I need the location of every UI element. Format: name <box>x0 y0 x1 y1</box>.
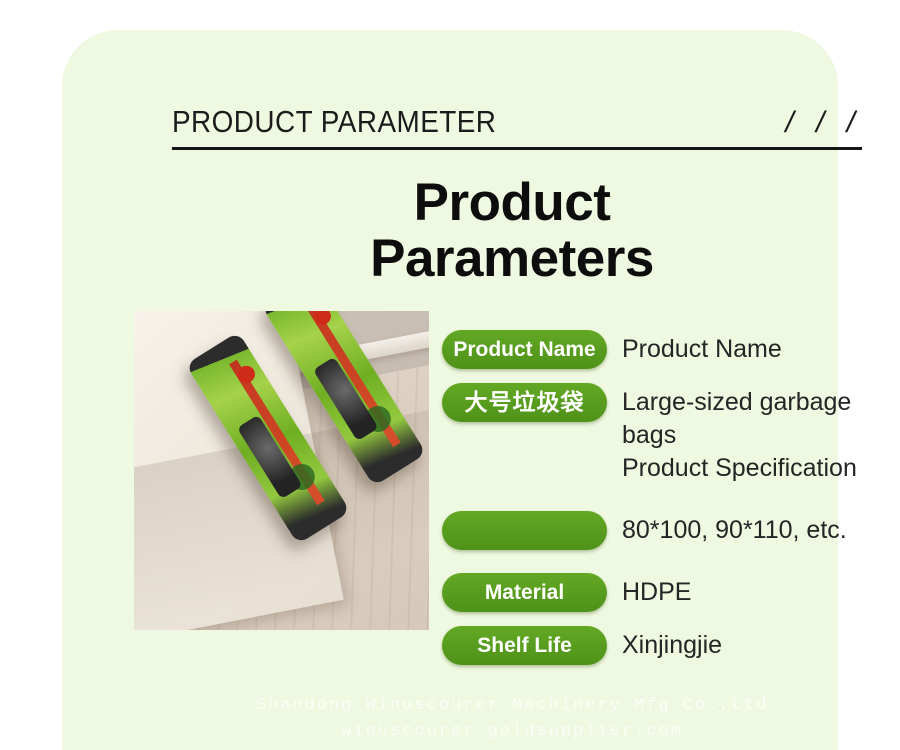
watermark: Shandong Winuscourer Machinery Mfg Co.,L… <box>124 693 900 745</box>
watermark-url: winuscourer.goldsupplier.com <box>124 719 900 745</box>
specification-list: Product Name Product Name 大号垃圾袋 Large-si… <box>442 330 900 679</box>
page-title: Product Parameters <box>124 175 900 287</box>
page-title-line2: Parameters <box>124 231 900 287</box>
watermark-company: Shandong Winuscourer Machinery Mfg Co.,L… <box>124 693 900 719</box>
spec-label-specification <box>442 511 607 550</box>
spec-row-product-name: Product Name Product Name <box>442 330 900 369</box>
spec-label-shelf-life: Shelf Life <box>442 626 607 665</box>
spec-row-specification: 80*100, 90*110, etc. <box>442 511 900 550</box>
slashes-decoration: / / / <box>785 106 862 140</box>
spec-value-product-name: Product Name <box>622 330 782 366</box>
spec-value-specification: 80*100, 90*110, etc. <box>622 511 847 547</box>
page-title-line1: Product <box>124 175 900 231</box>
header-divider <box>172 147 862 150</box>
spec-value-material: HDPE <box>622 573 691 609</box>
spec-row-material: Material HDPE <box>442 573 900 612</box>
spec-label-material: Material <box>442 573 607 612</box>
spec-row-chinese-name: 大号垃圾袋 Large-sized garbage bags Product S… <box>442 383 900 485</box>
spec-label-chinese-name: 大号垃圾袋 <box>442 383 607 422</box>
eyebrow-header: PRODUCT PARAMETER / / / <box>172 104 862 150</box>
product-photo <box>134 311 429 630</box>
spec-value-shelf-life: Xinjingjie <box>622 626 722 662</box>
spec-row-shelf-life: Shelf Life Xinjingjie <box>442 626 900 665</box>
spec-value-chinese-name: Large-sized garbage bags Product Specifi… <box>622 383 900 485</box>
product-parameter-card: PRODUCT PARAMETER / / / Product Paramete… <box>62 30 838 750</box>
spec-label-product-name: Product Name <box>442 330 607 369</box>
eyebrow-title: PRODUCT PARAMETER <box>172 104 496 140</box>
